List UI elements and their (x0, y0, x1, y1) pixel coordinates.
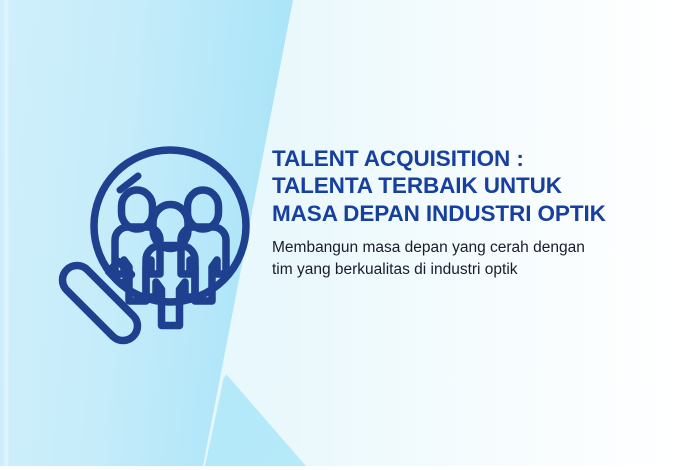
background-bottom-strip (0, 466, 681, 470)
magnifier-people-svg (22, 132, 252, 362)
headline-line-1: TALENT ACQUISITION : (272, 145, 662, 172)
headline-line-2: TALENTA TERBAIK UNTUK (272, 172, 662, 199)
copy-block: TALENT ACQUISITION : TALENTA TERBAIK UNT… (272, 145, 662, 281)
banner-slide: TALENT ACQUISITION : TALENTA TERBAIK UNT… (0, 0, 681, 470)
background-edge-sheen (3, 0, 10, 466)
magnifier-people-icon (22, 132, 252, 362)
headline-line-3: MASA DEPAN INDUSTRI OPTIK (272, 200, 662, 227)
subcopy-text: Membangun masa depan yang cerah dengan t… (272, 237, 602, 281)
magnifier-lens-icon (94, 150, 246, 302)
